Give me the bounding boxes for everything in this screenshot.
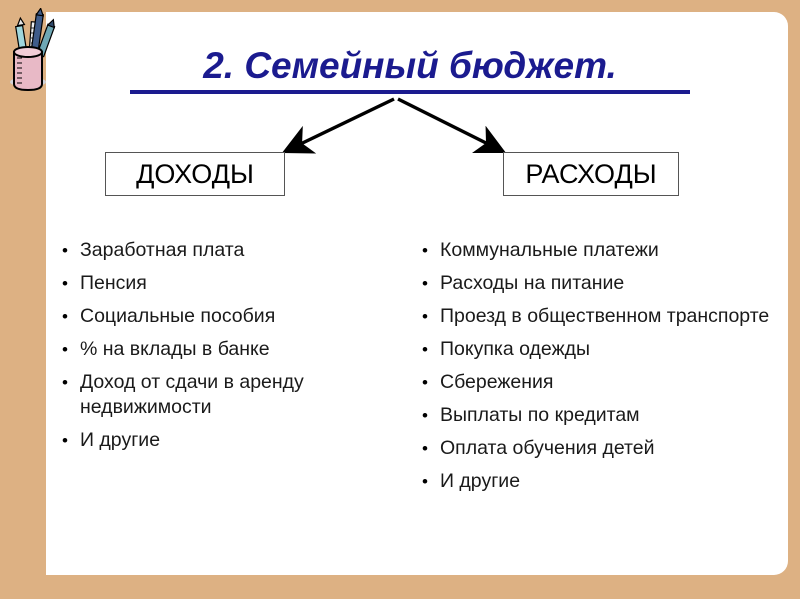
list-item: • Коммунальные платежи bbox=[418, 238, 773, 263]
bullet-icon: • bbox=[58, 271, 80, 296]
bullet-icon: • bbox=[418, 370, 440, 395]
list-item: • Пенсия bbox=[58, 271, 403, 296]
list-item-label: Заработная плата bbox=[80, 238, 403, 263]
bullet-icon: • bbox=[418, 304, 440, 329]
bullet-list-incomes: • Заработная плата • Пенсия • Социальные… bbox=[58, 238, 403, 461]
list-item: • Социальные пособия bbox=[58, 304, 403, 329]
bullet-icon: • bbox=[418, 271, 440, 296]
list-item-label: % на вклады в банке bbox=[80, 337, 403, 362]
heading-box-incomes[interactable]: ДОХОДЫ bbox=[105, 152, 285, 196]
bullet-icon: • bbox=[58, 304, 80, 329]
list-item: • % на вклады в банке bbox=[58, 337, 403, 362]
list-item: • И другие bbox=[418, 469, 773, 494]
list-item: • Сбережения bbox=[418, 370, 773, 395]
bullet-icon: • bbox=[418, 337, 440, 362]
list-item-label: Доход от сдачи в аренду недвижимости bbox=[80, 370, 403, 420]
list-item-label: Расходы на питание bbox=[440, 271, 773, 296]
bullet-icon: • bbox=[58, 370, 80, 395]
list-item: • Выплаты по кредитам bbox=[418, 403, 773, 428]
list-item: • Заработная плата bbox=[58, 238, 403, 263]
heading-label-incomes: ДОХОДЫ bbox=[136, 161, 254, 188]
list-item: • И другие bbox=[58, 428, 403, 453]
slide-canvas: 2. Семейный бюджет. ДОХОДЫ РАСХОДЫ • Зар… bbox=[0, 0, 800, 599]
bullet-icon: • bbox=[418, 403, 440, 428]
list-item-label: Коммунальные платежи bbox=[440, 238, 773, 263]
list-item-label: Оплата обучения детей bbox=[440, 436, 773, 461]
heading-label-expenses: РАСХОДЫ bbox=[525, 161, 656, 188]
list-item: • Доход от сдачи в аренду недвижимости bbox=[58, 370, 403, 420]
title-underline bbox=[130, 90, 690, 94]
page-title-text: 2. Семейный бюджет. bbox=[130, 44, 690, 88]
list-item-label: Социальные пособия bbox=[80, 304, 403, 329]
bullet-icon: • bbox=[418, 469, 440, 494]
list-item-label: Сбережения bbox=[440, 370, 773, 395]
list-item-label: И другие bbox=[440, 469, 773, 494]
bullet-icon: • bbox=[418, 436, 440, 461]
list-item-label: Проезд в общественном транспорте bbox=[440, 304, 773, 329]
bullet-icon: • bbox=[418, 238, 440, 263]
list-item: • Проезд в общественном транспорте bbox=[418, 304, 773, 329]
list-item: • Покупка одежды bbox=[418, 337, 773, 362]
bullet-icon: • bbox=[58, 428, 80, 453]
list-item: • Оплата обучения детей bbox=[418, 436, 773, 461]
bullet-icon: • bbox=[58, 238, 80, 263]
list-item: • Расходы на питание bbox=[418, 271, 773, 296]
list-item-label: Выплаты по кредитам bbox=[440, 403, 773, 428]
bullet-list-expenses: • Коммунальные платежи • Расходы на пита… bbox=[418, 238, 773, 502]
page-title: 2. Семейный бюджет. bbox=[130, 44, 690, 94]
heading-box-expenses[interactable]: РАСХОДЫ bbox=[503, 152, 679, 196]
bullet-icon: • bbox=[58, 337, 80, 362]
pencil-cup-icon bbox=[6, 8, 62, 100]
list-item-label: И другие bbox=[80, 428, 403, 453]
list-item-label: Пенсия bbox=[80, 271, 403, 296]
list-item-label: Покупка одежды bbox=[440, 337, 773, 362]
